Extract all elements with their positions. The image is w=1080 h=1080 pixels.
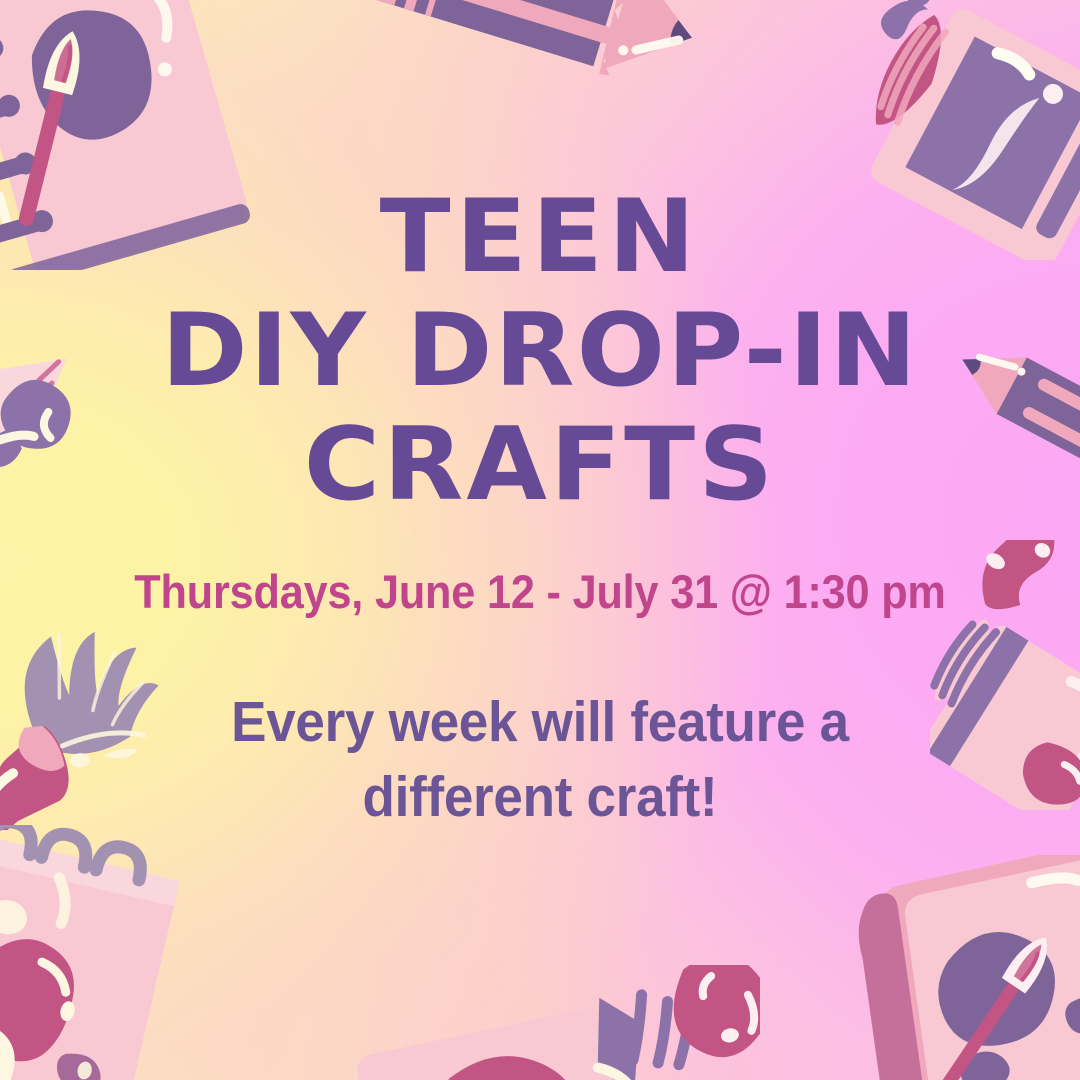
craft-event-poster: TEEN DIY DROP-IN CRAFTS Thursdays, June … — [0, 0, 1080, 1080]
headline-line-1: TEEN — [46, 186, 1035, 286]
description-line-2: different craft! — [159, 760, 922, 835]
poster-text-stack: TEEN DIY DROP-IN CRAFTS Thursdays, June … — [0, 0, 1080, 1080]
event-description: Every week will feature a different craf… — [159, 685, 922, 835]
description-line-1: Every week will feature a — [159, 685, 922, 760]
page-title: TEEN DIY DROP-IN CRAFTS — [46, 0, 1035, 514]
event-schedule: Thursdays, June 12 - July 31 @ 1:30 pm — [80, 568, 1000, 615]
headline-line-3: CRAFTS — [46, 414, 1035, 514]
headline-line-2: DIY DROP-IN — [46, 300, 1035, 400]
